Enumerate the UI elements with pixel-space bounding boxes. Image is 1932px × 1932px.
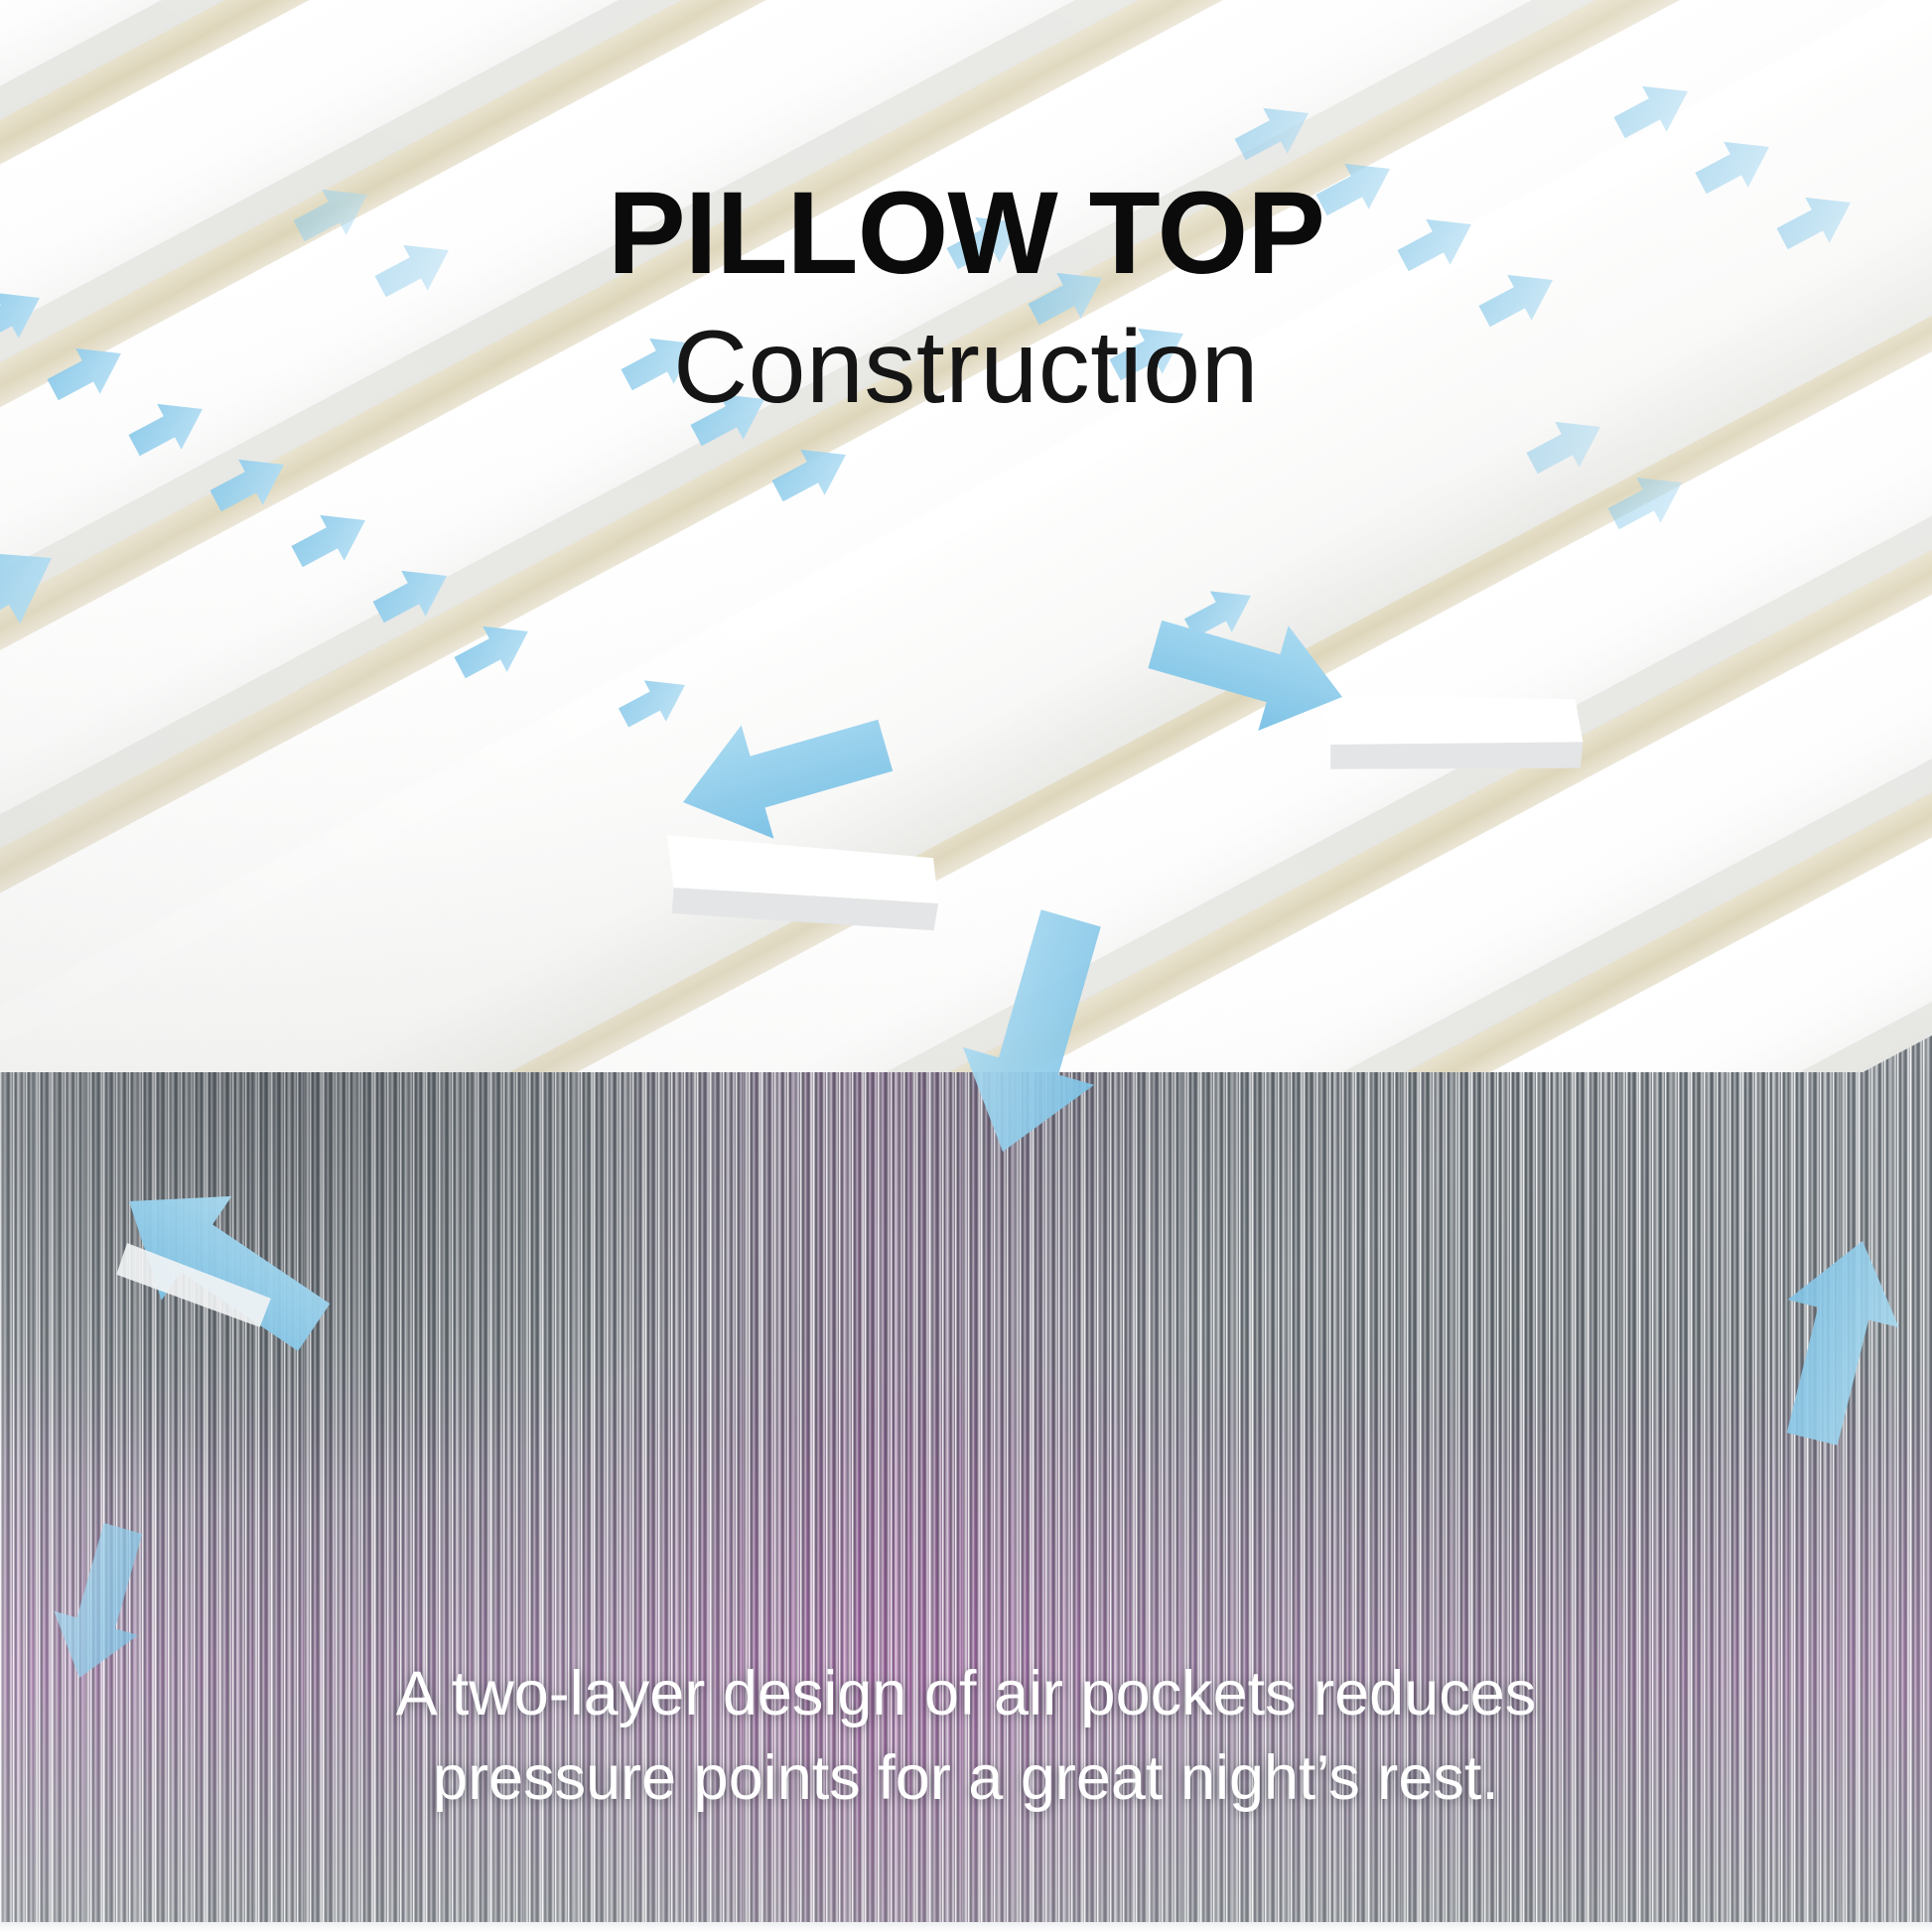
bottom-edge-strip bbox=[0, 1922, 1932, 1932]
caption-line-2: pressure points for a great night’s rest… bbox=[0, 1736, 1932, 1821]
caption-line-1: A two-layer design of air pockets reduce… bbox=[0, 1652, 1932, 1736]
infographic-canvas: PILLOW TOP Construction A two-layer desi… bbox=[0, 0, 1932, 1932]
page-title: PILLOW TOP bbox=[0, 175, 1932, 292]
quilted-pillow-top bbox=[0, 0, 1932, 1072]
title-block: PILLOW TOP Construction bbox=[0, 175, 1932, 419]
page-subtitle: Construction bbox=[0, 316, 1932, 419]
caption-block: A two-layer design of air pockets reduce… bbox=[0, 1652, 1932, 1821]
